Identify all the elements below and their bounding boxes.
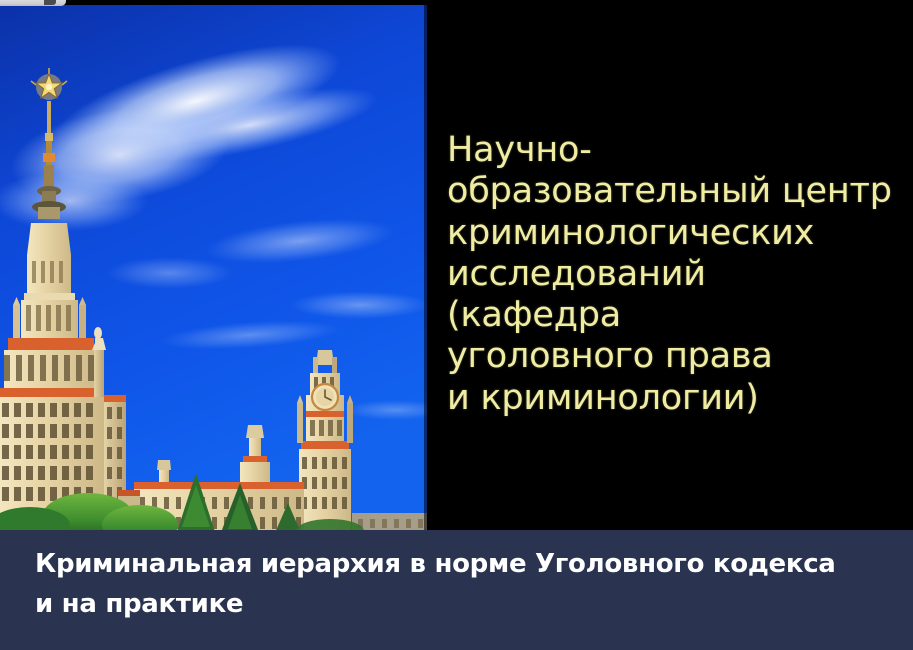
cropped-ui-sliver-mark [44,0,56,5]
msu-building-photo [0,5,427,530]
title-text-panel: Научно- образовательный центр криминолог… [427,0,913,530]
msu-building-illustration [0,5,427,530]
caption-bar: Криминальная иерархия в норме Уголовного… [0,530,913,650]
slide-canvas: Научно- образовательный центр криминолог… [0,0,913,650]
center-name-heading: Научно- образовательный центр криминолог… [447,130,899,419]
presentation-title-caption: Криминальная иерархия в норме Уголовного… [35,544,885,625]
cropped-ui-sliver[interactable] [0,0,66,6]
